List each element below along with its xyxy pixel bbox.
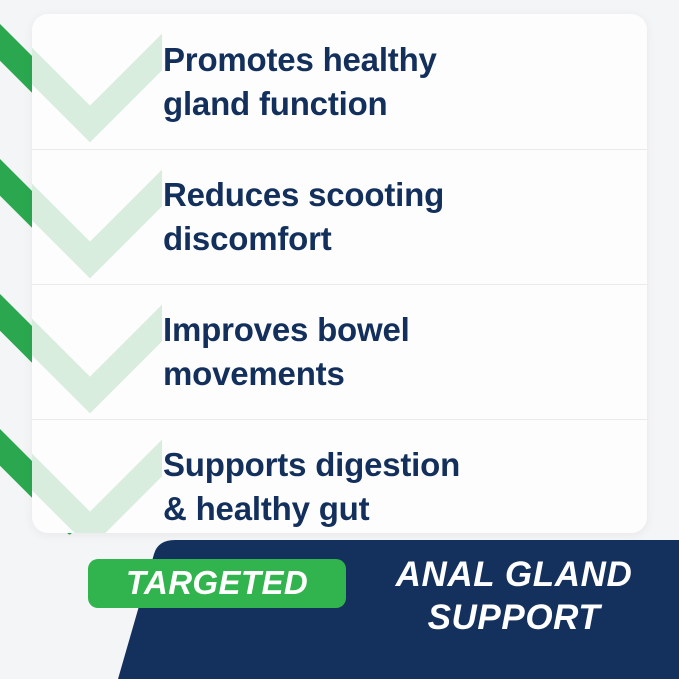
- benefit-row: Reduces scooting discomfort: [32, 149, 647, 284]
- targeted-badge: TARGETED: [88, 559, 346, 608]
- banner-headline: ANAL GLAND SUPPORT: [358, 554, 670, 639]
- benefit-label: Improves bowel movements: [163, 308, 410, 395]
- benefit-label: Promotes healthy gland function: [163, 38, 437, 125]
- benefits-card: Promotes healthy gland function Reduces …: [32, 14, 647, 533]
- benefit-row: Supports digestion & healthy gut: [32, 419, 647, 533]
- checkmark-icon: [32, 150, 162, 285]
- benefit-row: Improves bowel movements: [32, 284, 647, 419]
- checkmark-icon: [32, 285, 162, 420]
- benefit-label: Reduces scooting discomfort: [163, 173, 444, 260]
- promo-graphic: Promotes healthy gland function Reduces …: [0, 0, 679, 679]
- targeted-badge-label: TARGETED: [126, 566, 308, 601]
- benefit-label: Supports digestion & healthy gut: [163, 443, 460, 530]
- benefit-row: Promotes healthy gland function: [32, 14, 647, 149]
- checkmark-icon: [32, 14, 162, 149]
- checkmark-icon: [32, 420, 162, 534]
